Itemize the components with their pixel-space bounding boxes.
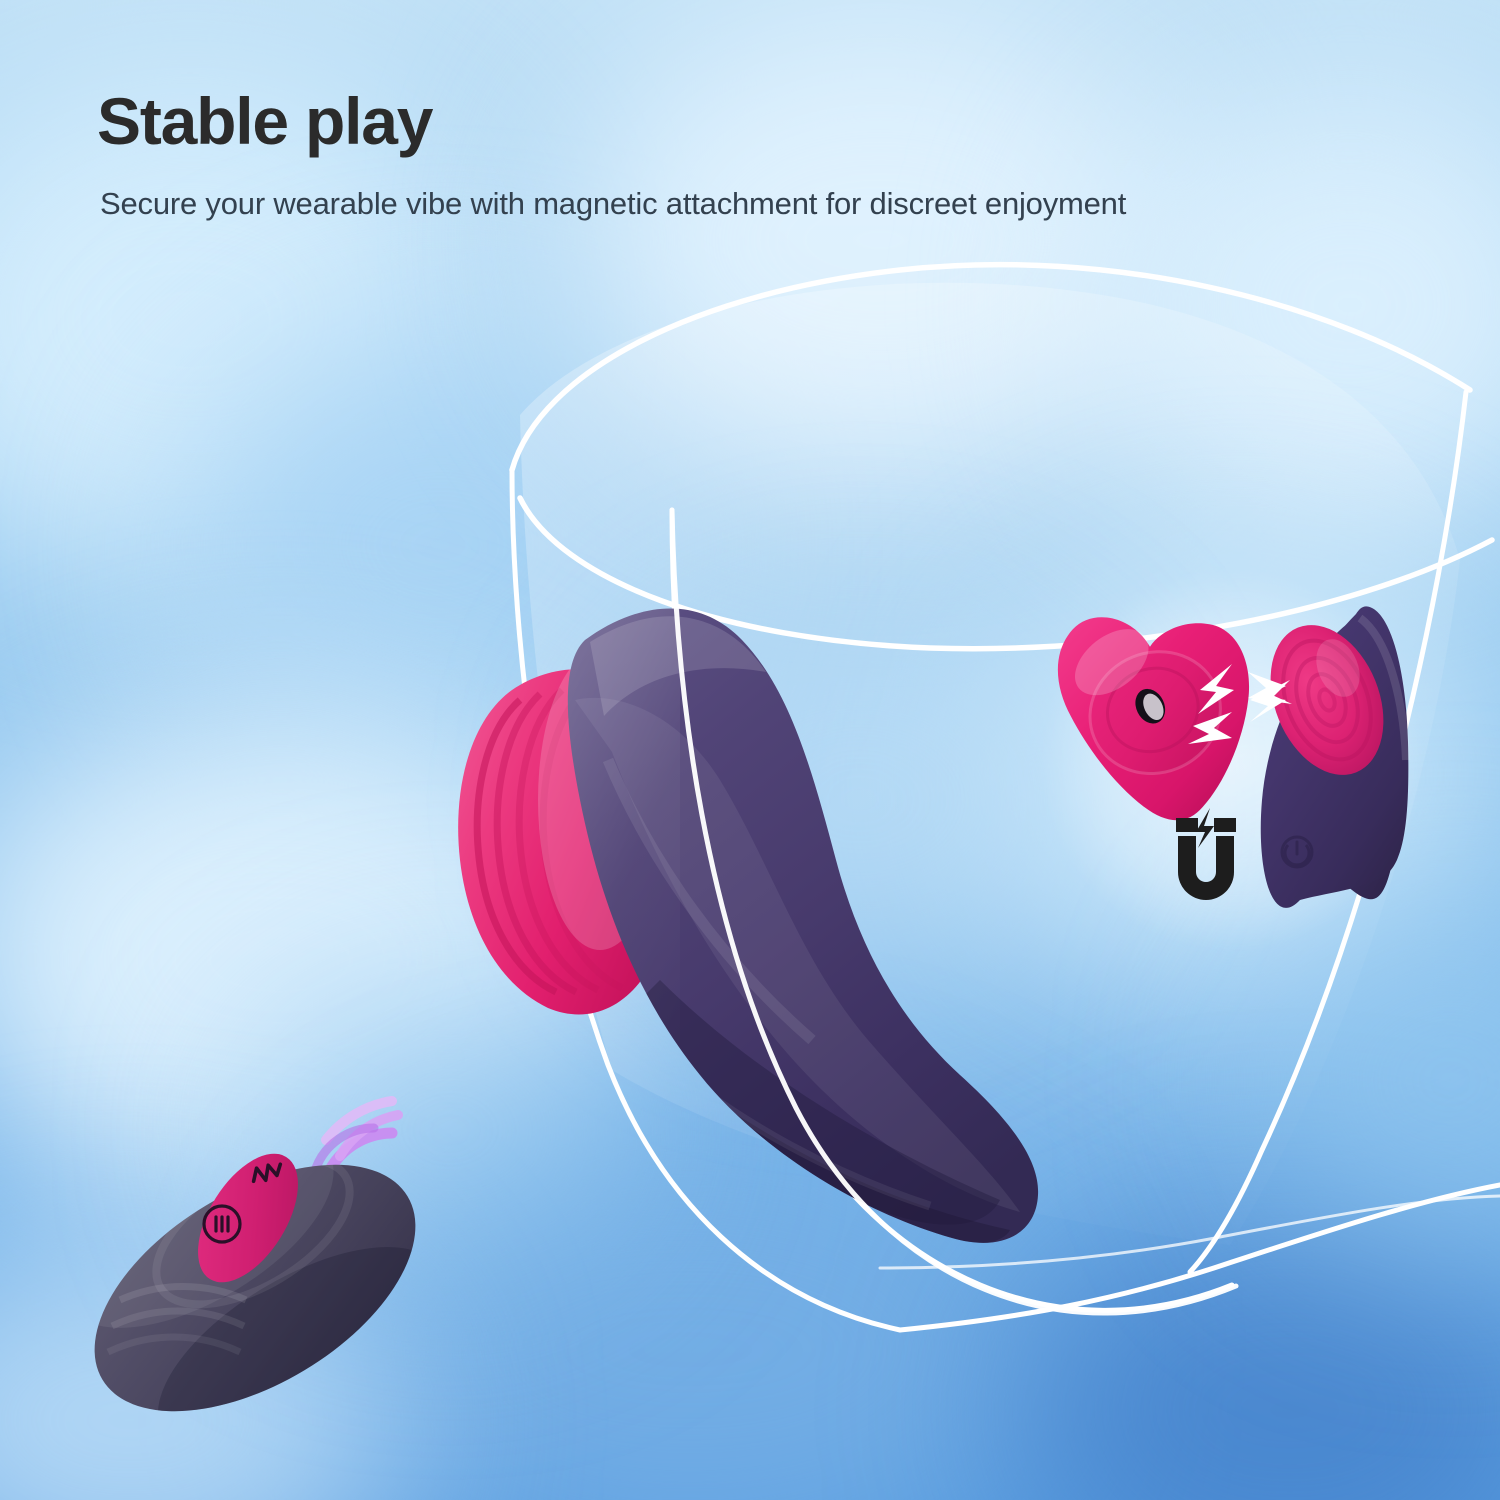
remote-shading bbox=[35, 1093, 474, 1494]
remote-body bbox=[35, 1093, 474, 1494]
page-title: Stable play bbox=[97, 88, 432, 154]
page-subtitle: Secure your wearable vibe with magnetic … bbox=[100, 186, 1126, 222]
product-feature-poster: Stable play Secure your wearable vibe wi… bbox=[0, 0, 1500, 1500]
wireless-remote bbox=[0, 0, 1500, 1500]
